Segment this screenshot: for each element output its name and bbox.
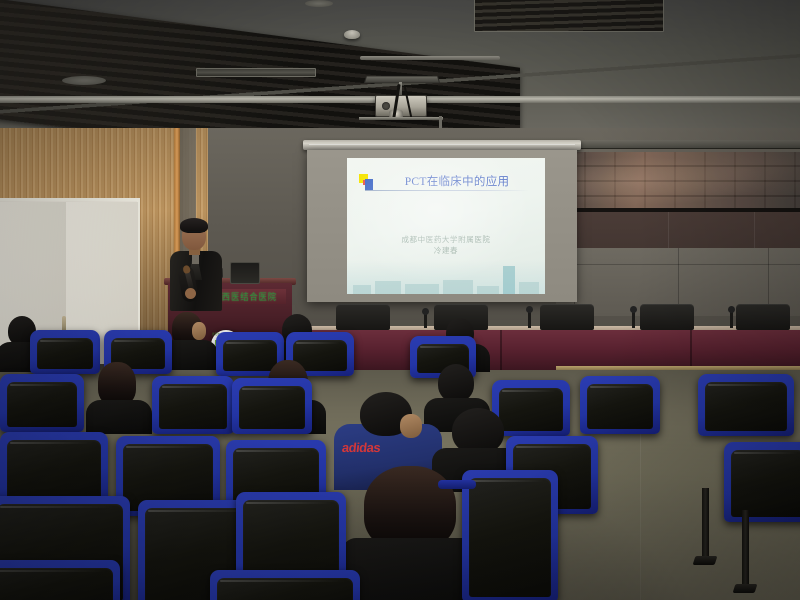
auditorium-seat[interactable] bbox=[232, 378, 312, 434]
slide-decoration-blocks bbox=[359, 174, 377, 191]
projector-screen-roller[interactable] bbox=[303, 140, 581, 150]
seat-highlight bbox=[236, 450, 312, 452]
seat-pad bbox=[587, 384, 653, 429]
auditorium-seat[interactable] bbox=[210, 570, 360, 600]
seat-highlight bbox=[10, 442, 94, 444]
attendee-face bbox=[192, 322, 206, 340]
seat-highlight bbox=[162, 386, 220, 388]
seat-pad bbox=[731, 450, 800, 517]
table-microphone bbox=[730, 310, 733, 328]
conference-chair[interactable] bbox=[336, 304, 390, 330]
panel-seam bbox=[556, 264, 800, 265]
recessed-light bbox=[62, 76, 106, 85]
table-microphone bbox=[424, 312, 427, 328]
projector-mount-plate bbox=[364, 76, 440, 83]
glasses-icon bbox=[184, 231, 205, 236]
slide-subtitle-line1: 成都中医药大学附属医院 bbox=[347, 234, 545, 245]
building-shape bbox=[443, 280, 473, 294]
seat-highlight bbox=[590, 386, 646, 388]
slide-title-underline bbox=[365, 190, 529, 191]
seat-leg bbox=[702, 488, 709, 558]
seat-leg bbox=[742, 510, 749, 586]
stone-texture-band bbox=[556, 152, 800, 210]
building-shape bbox=[353, 285, 371, 294]
seat-foot bbox=[733, 584, 758, 593]
seat-pad bbox=[469, 478, 551, 597]
projector-support-bar bbox=[359, 117, 443, 120]
table-seam bbox=[500, 330, 502, 370]
seat-pad bbox=[705, 382, 787, 431]
slide-subtitle-line2: 冷建春 bbox=[347, 245, 545, 256]
slide-title: PCT在临床中的应用 bbox=[381, 173, 533, 189]
auditorium-seat[interactable] bbox=[698, 374, 794, 436]
projection-screen: PCT在临床中的应用 成都中医药大学附属医院 冷建春 bbox=[307, 150, 577, 302]
podium-monitor bbox=[230, 262, 260, 284]
seat-highlight bbox=[220, 580, 346, 582]
attendee bbox=[166, 312, 214, 366]
projector-hook bbox=[439, 116, 442, 128]
building-shape bbox=[519, 282, 539, 294]
auditorium-seat[interactable] bbox=[724, 442, 800, 522]
seat-highlight bbox=[472, 480, 544, 482]
auditorium-seat[interactable] bbox=[152, 376, 234, 434]
seat-highlight bbox=[40, 340, 86, 342]
seat-pad bbox=[159, 384, 227, 429]
attendee bbox=[92, 362, 148, 422]
air-vent bbox=[474, 0, 664, 32]
seat-highlight bbox=[226, 342, 270, 344]
ceiling-mounted-projector bbox=[355, 70, 447, 132]
seat-highlight bbox=[420, 346, 462, 348]
adidas-logo-text: adidas bbox=[341, 440, 381, 455]
speaker-presenter bbox=[168, 218, 224, 308]
table-microphone bbox=[632, 310, 635, 328]
auditorium-seat[interactable] bbox=[0, 560, 120, 600]
building-shape-tall bbox=[503, 266, 515, 294]
smoke-detector-icon bbox=[344, 30, 360, 39]
seat-pad bbox=[0, 568, 113, 600]
seat-highlight bbox=[734, 452, 798, 454]
seat-highlight bbox=[126, 446, 206, 448]
attendee-adidas-head bbox=[356, 392, 426, 438]
panel-top-rail bbox=[556, 140, 800, 149]
table-seam bbox=[690, 330, 692, 370]
auditorium-seat[interactable] bbox=[462, 470, 558, 600]
blue-square-icon bbox=[365, 179, 373, 190]
auditorium-seat[interactable] bbox=[580, 376, 660, 434]
building-shape bbox=[477, 286, 499, 294]
seat-pad bbox=[239, 386, 305, 429]
seat-highlight bbox=[708, 384, 780, 386]
slide-cityscape-graphic bbox=[347, 260, 545, 294]
building-shape bbox=[375, 281, 401, 294]
conference-chair[interactable] bbox=[640, 304, 694, 330]
presentation-slide: PCT在临床中的应用 成都中医药大学附属医院 冷建春 bbox=[347, 158, 545, 294]
seat-pad bbox=[7, 382, 77, 427]
lecture-hall-photo: PCT在临床中的应用 成都中医药大学附属医院 冷建春 bbox=[0, 0, 800, 600]
speaker-hand bbox=[185, 288, 196, 299]
recessed-light bbox=[305, 0, 333, 7]
air-vent bbox=[196, 68, 316, 77]
seat-pad bbox=[37, 338, 93, 369]
conference-chair[interactable] bbox=[540, 304, 594, 330]
seat-highlight bbox=[242, 388, 298, 390]
seat-highlight bbox=[246, 502, 332, 504]
ceiling-light-slot bbox=[360, 56, 500, 60]
seat-highlight bbox=[516, 446, 584, 448]
seat-armrest[interactable] bbox=[438, 480, 476, 489]
seat-highlight bbox=[114, 340, 158, 342]
auditorium-seat[interactable] bbox=[30, 330, 100, 374]
seat-highlight bbox=[296, 342, 340, 344]
seat-highlight bbox=[0, 570, 106, 572]
seat-foot bbox=[693, 556, 718, 565]
building-shape bbox=[405, 284, 439, 294]
attendee-shoulders bbox=[86, 400, 152, 434]
seat-highlight bbox=[502, 390, 556, 392]
attendee-head bbox=[438, 364, 474, 402]
table-microphone bbox=[528, 310, 531, 328]
seat-highlight bbox=[0, 506, 116, 508]
slide-subtitle: 成都中医药大学附属医院 冷建春 bbox=[347, 234, 545, 256]
auditorium-seat[interactable] bbox=[0, 374, 84, 432]
attendee-neck bbox=[400, 414, 422, 438]
conference-chair[interactable] bbox=[736, 304, 790, 330]
seat-highlight bbox=[10, 384, 70, 386]
